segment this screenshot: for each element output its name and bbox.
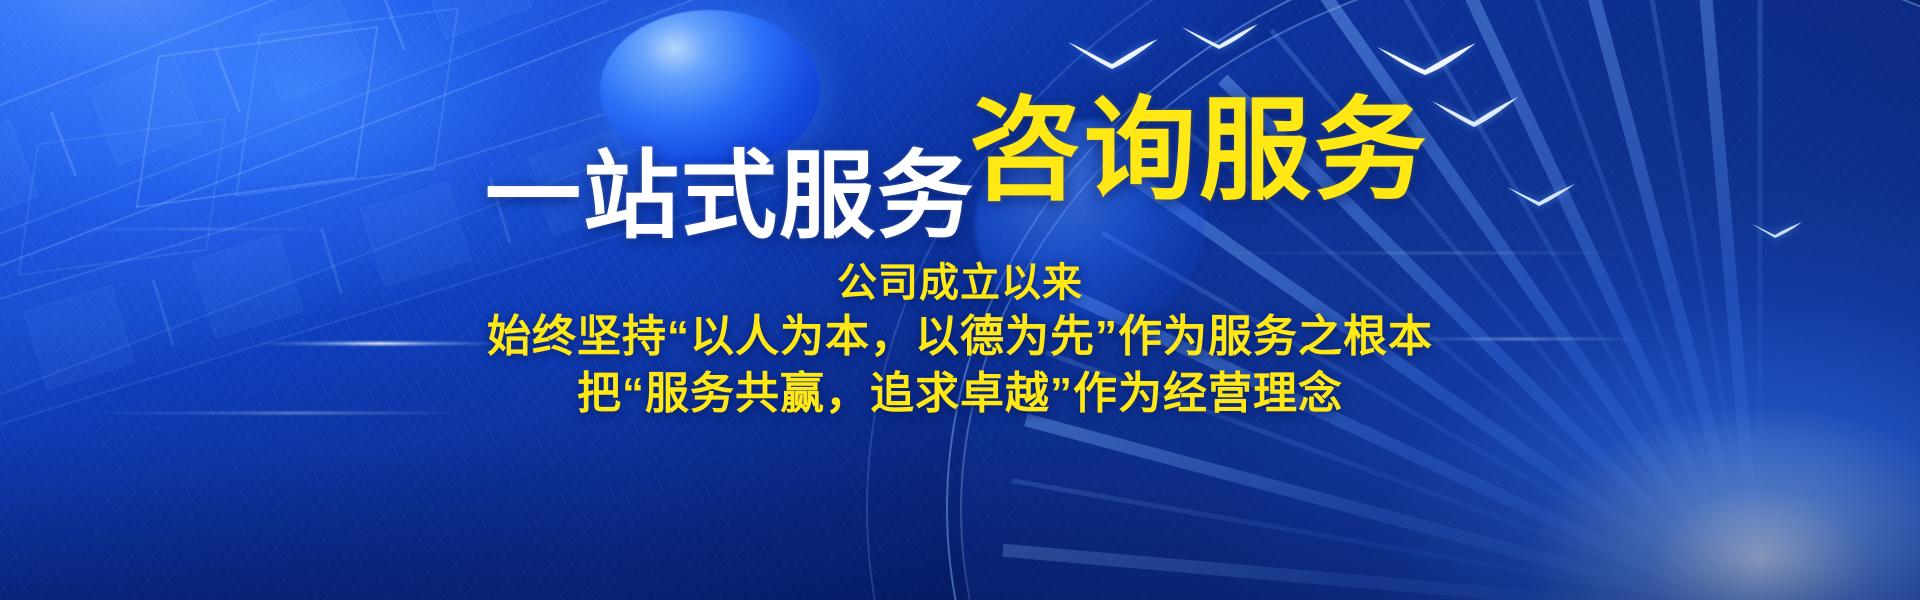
promotional-banner: 一站式服务咨询服务 公司成立以来 始终坚持“以人为本，以德为先”作为服务之根本 …: [0, 0, 1920, 600]
blue-sphere-shape-secondary: [975, 120, 1205, 330]
light-streak-shape: [1150, 252, 1670, 254]
light-streak-shape: [60, 412, 480, 414]
light-streak-shape: [250, 342, 510, 345]
light-streak-shape: [1340, 338, 1660, 340]
light-streak-shape: [0, 228, 360, 230]
blue-sphere-shape: [600, 10, 820, 170]
ghost-rectangle-outline: [235, 7, 459, 196]
